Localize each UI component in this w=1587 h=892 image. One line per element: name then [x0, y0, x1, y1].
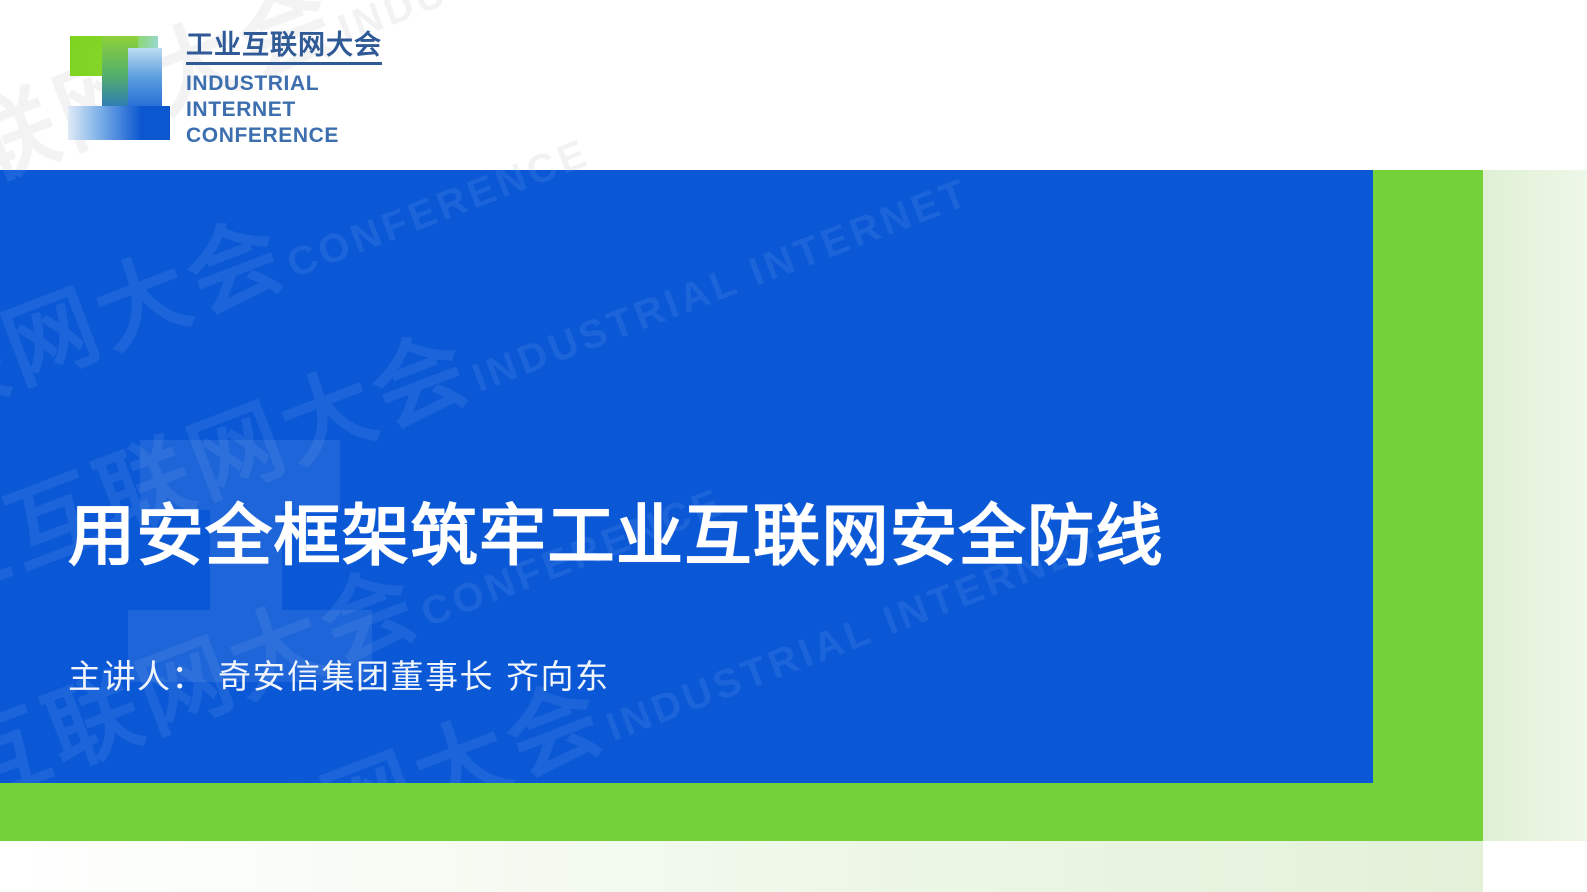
green-accent-bar-bottom: [0, 783, 1483, 841]
watermark-english-text: CONFERENCE: [281, 170, 596, 287]
title-panel: 工业互联网大会 CONFERENCE 2020 工业互联网大会 INDUSTRI…: [0, 170, 1373, 783]
slide-header: 工业互联网大会 INDUSTRIAL INTERNET CONFERENCE: [0, 0, 1587, 170]
presentation-slide: 工业互联网大会 CONFERENCE 2020 工业互联网大会 INDUSTRI…: [0, 0, 1587, 892]
pale-green-gradient-strip: [0, 841, 1483, 892]
logo-english-line-2: INTERNET: [186, 97, 382, 123]
conference-logo: 工业互联网大会 INDUSTRIAL INTERNET CONFERENCE: [62, 26, 382, 148]
slide-subtitle-speaker: 主讲人： 奇安信集团董事长 齐向东: [68, 656, 1164, 699]
watermark-row: 工业互联网大会 CONFERENCE: [0, 170, 1373, 254]
conference-logo-mark-icon: [62, 26, 170, 144]
watermark-english-text: INDUSTRIAL INTERNET: [467, 170, 977, 401]
slide-title: 用安全框架筑牢工业互联网安全防线: [68, 500, 1164, 574]
logo-english-line-1: INDUSTRIAL: [186, 71, 382, 97]
logo-english-name: INDUSTRIAL INTERNET CONFERENCE: [186, 71, 382, 148]
watermark-chinese-text: 工业互联网大会: [0, 170, 355, 314]
logo-english-line-3: CONFERENCE: [186, 123, 382, 149]
pale-green-gradient-column: [1483, 170, 1587, 841]
conference-logo-text: 工业互联网大会 INDUSTRIAL INTERNET CONFERENCE: [186, 26, 382, 148]
logo-chinese-name: 工业互联网大会: [186, 32, 382, 65]
watermark-row: 2020 工业互联网大会 INDUSTRIAL INTERNET: [0, 170, 1373, 415]
title-block: 用安全框架筑牢工业互联网安全防线 主讲人： 奇安信集团董事长 齐向东: [68, 500, 1164, 699]
watermark-chinese-text: 工业互联网大会: [0, 170, 169, 200]
